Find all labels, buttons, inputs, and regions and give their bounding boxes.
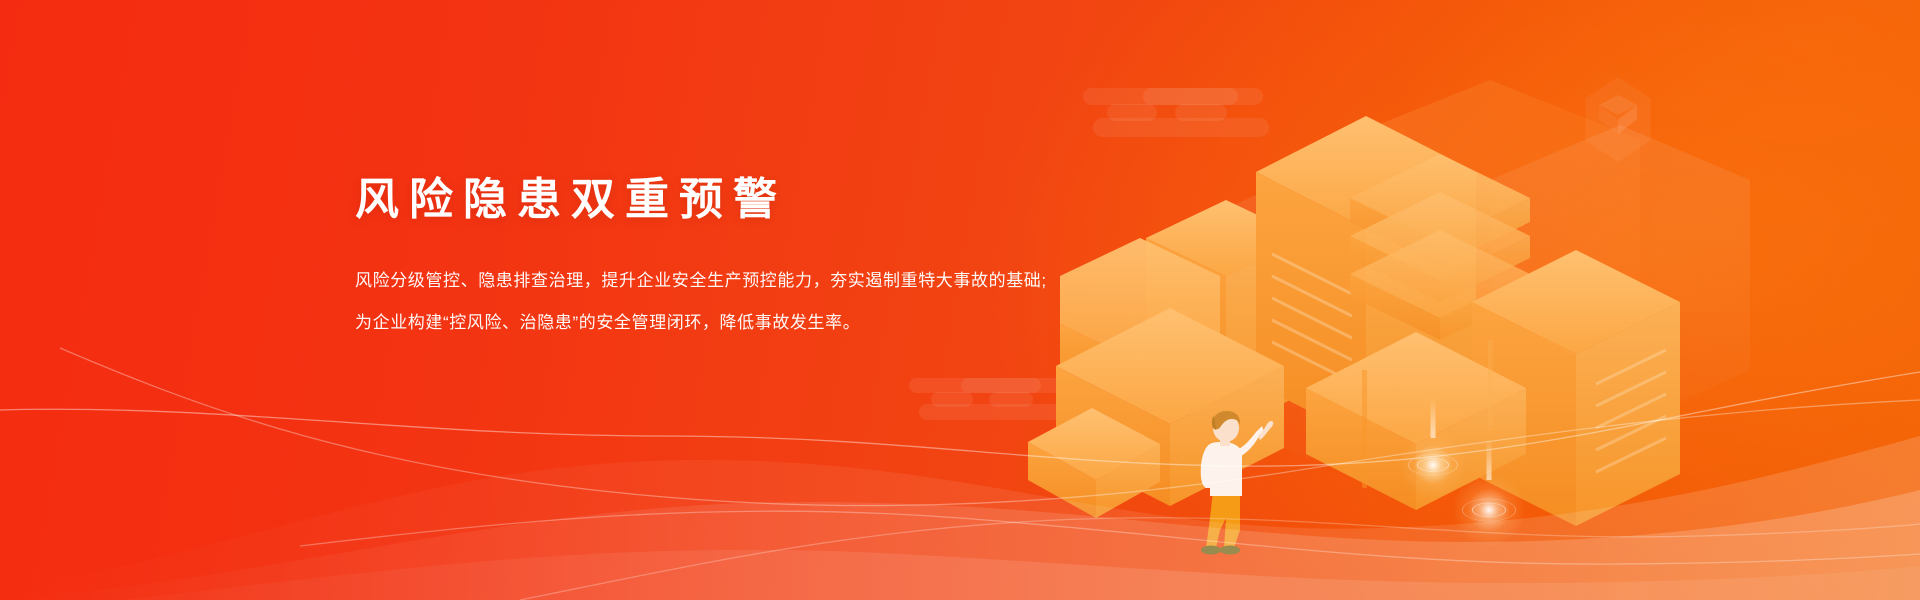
hero-copy: 风险隐患双重预警 风险分级管控、隐患排查治理，提升企业安全生产预控能力，夯实遏制… xyxy=(355,176,1115,338)
hero-banner: 风险隐患双重预警 风险分级管控、隐患排查治理，提升企业安全生产预控能力，夯实遏制… xyxy=(0,0,1920,600)
description-line-2: 为企业构建“控风险、治隐患”的安全管理闭环，降低事故发生率。 xyxy=(355,308,1115,338)
page-title: 风险隐患双重预警 xyxy=(355,176,1115,224)
hexagon-icon-large-left xyxy=(1181,209,1267,305)
bottom-wave-decoration xyxy=(0,340,1920,600)
hero-description: 风险分级管控、隐患排查治理，提升企业安全生产预控能力，夯实遏制重特大事故的基础;… xyxy=(355,224,1115,338)
hexagon-icon-small-upper xyxy=(1268,151,1322,211)
hexagon-icon-top-right xyxy=(1580,77,1656,162)
description-line-1: 风险分级管控、隐患排查治理，提升企业安全生产预控能力，夯实遏制重特大事故的基础; xyxy=(355,266,1115,296)
cloud-decoration-top xyxy=(1065,88,1275,140)
